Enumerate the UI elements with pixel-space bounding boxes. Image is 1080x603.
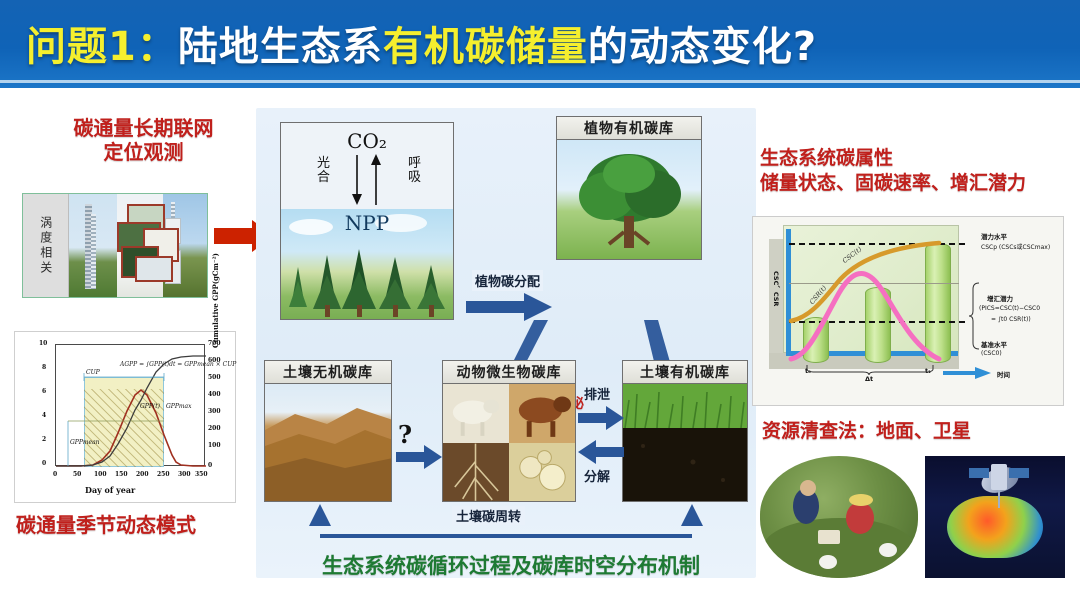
baseline-formula-label: (CSC0) xyxy=(981,350,1002,357)
chart-plot-area: AGPP = ∫GPP(t)dt = GPPmean × CUP CUP GPP… xyxy=(55,344,205,466)
photosynthesis-label: 光合 xyxy=(317,157,330,184)
soil-organic-image xyxy=(623,384,747,501)
csc-csr-curves xyxy=(769,225,969,383)
barren-soil-illustration xyxy=(265,384,392,501)
spore-icon xyxy=(509,443,575,502)
seasonal-pattern-heading: 碳通量季节动态模式 xyxy=(16,513,256,537)
soil-inorganic-caption: 土壤无机碳库 xyxy=(265,361,391,384)
photo-tower-left xyxy=(69,194,117,297)
flux-tower-mast-secondary xyxy=(91,214,96,289)
flux-observation-heading: 碳通量长期联网 定位观测 xyxy=(36,116,251,165)
ytick-8: 8 xyxy=(42,364,46,371)
csc-csr-diagram-panel: CSC(t) CSR(t) CSC、CSR t₀ t₁ Δt 潜力水平 CSCp… xyxy=(752,216,1064,406)
satellite-remote-sensing-photo xyxy=(925,456,1065,578)
field-survey-photo xyxy=(760,456,918,578)
plant-carbon-pool-box: 植物有机碳库 xyxy=(556,116,702,260)
title-bar: 问题1：陆地生态系有机碳储量的动态变化? xyxy=(0,0,1080,88)
attr-heading-line2: 储量状态、固碳速率、增汇潜力 xyxy=(760,172,1026,194)
satellite-illustration xyxy=(925,456,1065,578)
co2-exchange-arrows-icon xyxy=(345,153,391,207)
chart-xlabel: Day of year xyxy=(85,485,135,495)
y2tick-200: 200 xyxy=(208,425,221,432)
xtick-350: 350 xyxy=(195,471,208,478)
sheep-icon xyxy=(443,384,509,443)
eddy-photo-collage xyxy=(69,194,208,297)
title-segment-3: 有机碳储量 xyxy=(383,24,588,70)
time-axis-label: 时间 xyxy=(997,369,1010,379)
carbon-attributes-heading: 生态系统碳属性 储量状态、固碳速率、增汇潜力 xyxy=(760,146,1080,195)
xtick-150: 150 xyxy=(115,471,128,478)
csc-3d-axes: CSC(t) CSR(t) CSC、CSR t₀ t₁ Δt xyxy=(769,225,969,383)
grass-over-dark-soil-illustration xyxy=(623,384,748,501)
soil-inorganic-carbon-pool-box: 土壤无机碳库 xyxy=(264,360,392,502)
chart-gppt-annotation: GPP(t) xyxy=(140,403,160,410)
arrow-plant-allocation-icon xyxy=(466,292,552,322)
gpp-seasonal-chart: GPP(gCm⁻²d⁻¹) Cumulative GPP(gCm⁻²) Day … xyxy=(14,331,236,503)
ytick-10: 10 xyxy=(39,340,47,347)
microbe-photo-roots xyxy=(443,443,509,502)
xtick-100: 100 xyxy=(94,471,107,478)
decomposition-label: 分解 xyxy=(584,466,610,485)
animal-microbe-caption: 动物微生物碳库 xyxy=(443,361,575,384)
ytick-0: 0 xyxy=(42,460,46,467)
baseline-level-label: 基准水平 xyxy=(981,339,1007,349)
animal-photo-sheep xyxy=(443,384,509,443)
xtick-200: 200 xyxy=(136,471,149,478)
respiration-label: 呼吸 xyxy=(408,157,421,184)
eddy-covariance-panel: 涡度相关 xyxy=(22,193,208,298)
inset-photo-5 xyxy=(135,256,173,282)
flux-heading-line1: 碳通量长期联网 xyxy=(74,116,214,140)
soil-organic-caption: 土壤有机碳库 xyxy=(623,361,747,384)
sink-potential-brace-icon xyxy=(969,281,981,351)
plant-carbon-pool-image xyxy=(557,140,701,259)
plant-allocation-label: 植物碳分配 xyxy=(472,270,543,291)
potential-formula-label: CSCp (CSCs或CSCmax) xyxy=(981,242,1050,251)
title-underline xyxy=(0,80,1080,83)
chart-gppmax-annotation: GPPmax xyxy=(166,403,192,410)
excretion-label: 排泄 xyxy=(584,384,610,403)
y2tick-100: 100 xyxy=(208,442,221,449)
y2tick-0: 0 xyxy=(208,462,212,469)
potential-level-label: 潜力水平 xyxy=(981,231,1007,241)
slide-root: 问题1：陆地生态系有机碳储量的动态变化? 碳通量长期联网 定位观测 涡度相关 xyxy=(0,0,1080,603)
soil-carbon-turnover-label: 土壤碳周转 xyxy=(452,506,525,525)
ytick-4: 4 xyxy=(42,412,46,419)
resource-inventory-heading: 资源清查法：地面、卫星 xyxy=(762,420,1080,443)
root-network-icon xyxy=(443,443,509,502)
sink-formula-line2: = ∫t0 CSR(t)) xyxy=(991,316,1031,323)
chart-y2label: Cumulative GPP(gCm⁻²) xyxy=(211,230,220,348)
eddy-covariance-label: 涡度相关 xyxy=(23,194,69,297)
delta-t-label: Δt xyxy=(865,375,873,383)
attr-heading-line1: 生态系统碳属性 xyxy=(760,147,893,169)
sink-potential-label: 增汇潜力 xyxy=(987,293,1013,303)
title-segment-2: 陆地生态系 xyxy=(178,24,383,70)
cattle-icon xyxy=(509,384,575,443)
ytick-2: 2 xyxy=(42,436,46,443)
slide-canvas: 碳通量长期联网 定位观测 涡度相关 xyxy=(0,88,1080,603)
delta-t-brace-icon xyxy=(805,363,937,375)
animal-microbe-image xyxy=(443,384,575,501)
flux-heading-line2: 定位观测 xyxy=(104,140,184,164)
time-arrow-icon xyxy=(943,367,991,379)
npp-label: NPP xyxy=(281,211,453,235)
animal-photo-cattle xyxy=(509,384,575,443)
chart-cup-annotation: CUP xyxy=(86,369,100,376)
chart-gppmean-annotation: GPPmean xyxy=(70,439,100,446)
sink-formula-line1: (PICS=CSC(t)−CSC0 xyxy=(979,305,1040,312)
animal-microbe-carbon-pool-box: 动物微生物碳库 xyxy=(442,360,576,502)
y2tick-700: 700 xyxy=(208,340,221,347)
arrow-unknown-link-icon xyxy=(396,444,442,470)
y2tick-400: 400 xyxy=(208,391,221,398)
co2-label: CO₂ xyxy=(281,129,453,153)
arrow-decomposition-icon xyxy=(578,440,624,464)
carbon-cycle-caption: 生态系统碳循环过程及碳库时空分布机制 xyxy=(296,550,726,580)
y2tick-300: 300 xyxy=(208,408,221,415)
microbe-photo-spores xyxy=(509,443,575,502)
plant-carbon-pool-caption: 植物有机碳库 xyxy=(557,117,701,140)
title-segment-1: 问题1： xyxy=(26,24,178,70)
title-segment-4: 的动态变化? xyxy=(588,24,817,70)
page-title: 问题1：陆地生态系有机碳储量的动态变化? xyxy=(26,14,817,72)
csc-y-axis-label: CSC、CSR xyxy=(771,271,781,306)
xtick-300: 300 xyxy=(178,471,191,478)
npp-box: CO₂ 光合 呼吸 xyxy=(280,122,454,320)
chart-equation-annotation: AGPP = ∫GPP(t)dt = GPPmean × CUP xyxy=(120,361,236,368)
field-workers-illustration xyxy=(760,456,918,578)
xtick-50: 50 xyxy=(73,471,81,478)
soil-inorganic-image xyxy=(265,384,391,501)
xtick-0: 0 xyxy=(53,471,57,478)
xtick-250: 250 xyxy=(157,471,170,478)
tree-illustration xyxy=(557,140,702,259)
y2tick-500: 500 xyxy=(208,374,221,381)
soil-organic-carbon-pool-box: 土壤有机碳库 xyxy=(622,360,748,502)
arrow-excretion-icon xyxy=(578,406,624,430)
ytick-6: 6 xyxy=(42,388,46,395)
